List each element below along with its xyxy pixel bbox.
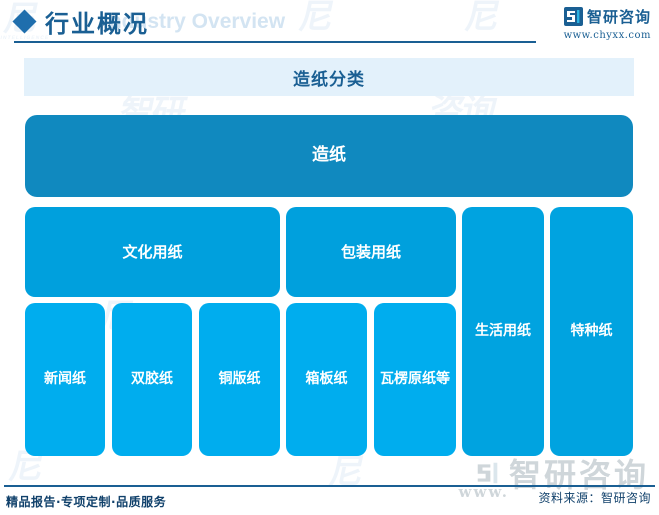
diagram-node-cultural-paper[interactable]: 文化用纸 xyxy=(25,207,280,297)
brand-name: 智研咨询 xyxy=(587,6,651,27)
brand-url: www.chyxx.com xyxy=(564,30,651,41)
chyxx-logo-icon xyxy=(564,7,583,26)
footer-source: 资料来源：智研咨询 xyxy=(538,489,651,506)
diagram-node-carton-board[interactable]: 箱板纸 xyxy=(286,303,367,456)
diagram-node-household-paper[interactable]: 生活用纸 xyxy=(462,207,544,456)
footer-tagline: 精品报告·专项定制·品质服务 xyxy=(6,493,166,510)
watermark-tile: 尼 xyxy=(326,455,365,489)
page-header: Industry Overview 行业概况 智研咨询 www.chyxx.co… xyxy=(0,0,659,48)
header-divider xyxy=(14,41,536,43)
chyxx-logo-watermark-icon xyxy=(473,458,503,488)
chart-title: 造纸分类 xyxy=(293,65,365,90)
diagram-node-packaging-paper[interactable]: 包装用纸 xyxy=(286,207,456,297)
diagram-node-specialty-paper[interactable]: 特种纸 xyxy=(550,207,633,456)
diagram-node-coated-paper[interactable]: 铜版纸 xyxy=(199,303,280,456)
footer-divider xyxy=(4,485,655,487)
page-title: 行业概况 xyxy=(45,4,149,39)
diamond-icon xyxy=(12,9,36,33)
brand-block: 智研咨询 www.chyxx.com xyxy=(564,6,651,41)
diagram-node-newsprint[interactable]: 新闻纸 xyxy=(25,303,105,456)
diagram-node-root[interactable]: 造纸 xyxy=(25,115,633,197)
chart-title-band: 造纸分类 xyxy=(24,58,634,96)
diagram-node-corrugated-base-paper[interactable]: 瓦楞原纸等 xyxy=(374,303,456,456)
diagram-node-woodfree-paper[interactable]: 双胶纸 xyxy=(112,303,192,456)
brand-row: 智研咨询 xyxy=(564,6,651,27)
